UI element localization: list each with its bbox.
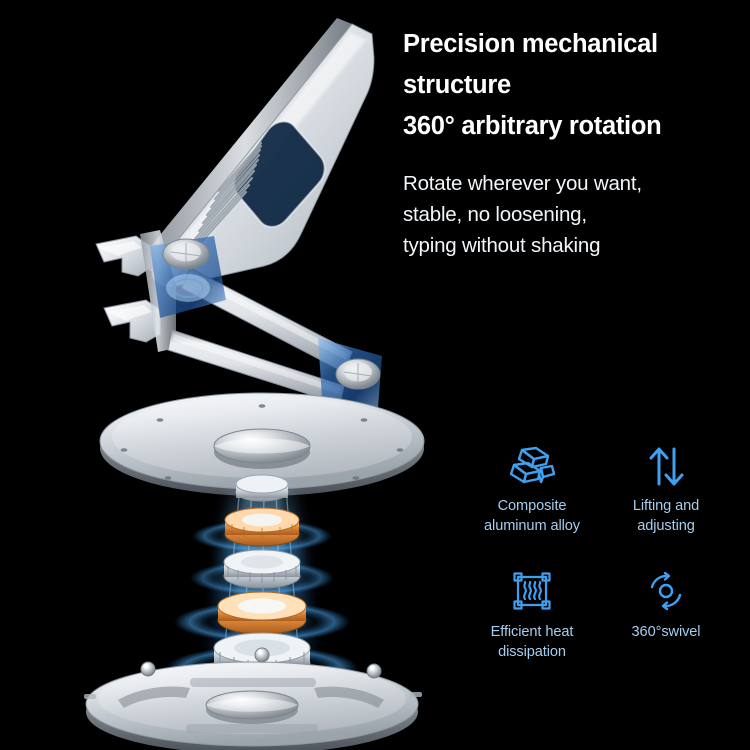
heat-dissipation-icon — [468, 566, 596, 618]
feature-label: Efficient heat dissipation — [468, 622, 596, 662]
feature-label: Lifting and adjusting — [602, 496, 730, 536]
up-down-arrows-icon — [602, 440, 730, 492]
product-illustration — [0, 0, 470, 750]
subheadline-line-3: typing without shaking — [403, 230, 748, 261]
product-svg — [0, 0, 470, 750]
feature-label-line-1: 360°swivel — [632, 624, 701, 640]
hinge-knob-upper — [150, 236, 226, 318]
base-platter — [84, 648, 422, 750]
feature-label-line-1: Efficient heat — [491, 624, 574, 640]
rotation-arrows-icon — [602, 566, 730, 618]
feature-icon-grid: Composite aluminum alloy Lifting and adj — [468, 440, 730, 670]
feature-label-line-1: Composite — [498, 498, 567, 514]
product-marketing-image: Precision mechanical structure 360° arbi… — [0, 0, 750, 750]
feature-label: Composite aluminum alloy — [468, 496, 596, 536]
headline-line-1: Precision mechanical — [403, 24, 743, 65]
subheadline-line-2: stable, no loosening, — [403, 199, 748, 230]
feature-360-swivel: 360°swivel — [602, 566, 730, 642]
aluminum-ingots-icon — [468, 440, 596, 492]
feature-label-line-2: dissipation — [498, 644, 566, 660]
headline-line-3: 360° arbitrary rotation — [403, 106, 743, 147]
feature-lifting-and-adjusting: Lifting and adjusting — [602, 440, 730, 536]
feature-label: 360°swivel — [602, 622, 730, 642]
feature-label-line-1: Lifting and — [633, 498, 699, 514]
headline-block: Precision mechanical structure 360° arbi… — [403, 24, 743, 147]
feature-efficient-heat-dissipation: Efficient heat dissipation — [468, 566, 596, 662]
subheadline-line-1: Rotate wherever you want, — [403, 168, 748, 199]
feature-composite-aluminum-alloy: Composite aluminum alloy — [468, 440, 596, 536]
subheadline-block: Rotate wherever you want, stable, no loo… — [403, 168, 748, 261]
feature-label-line-2: aluminum alloy — [484, 518, 580, 534]
headline-line-2: structure — [403, 65, 743, 106]
feature-label-line-2: adjusting — [637, 518, 695, 534]
